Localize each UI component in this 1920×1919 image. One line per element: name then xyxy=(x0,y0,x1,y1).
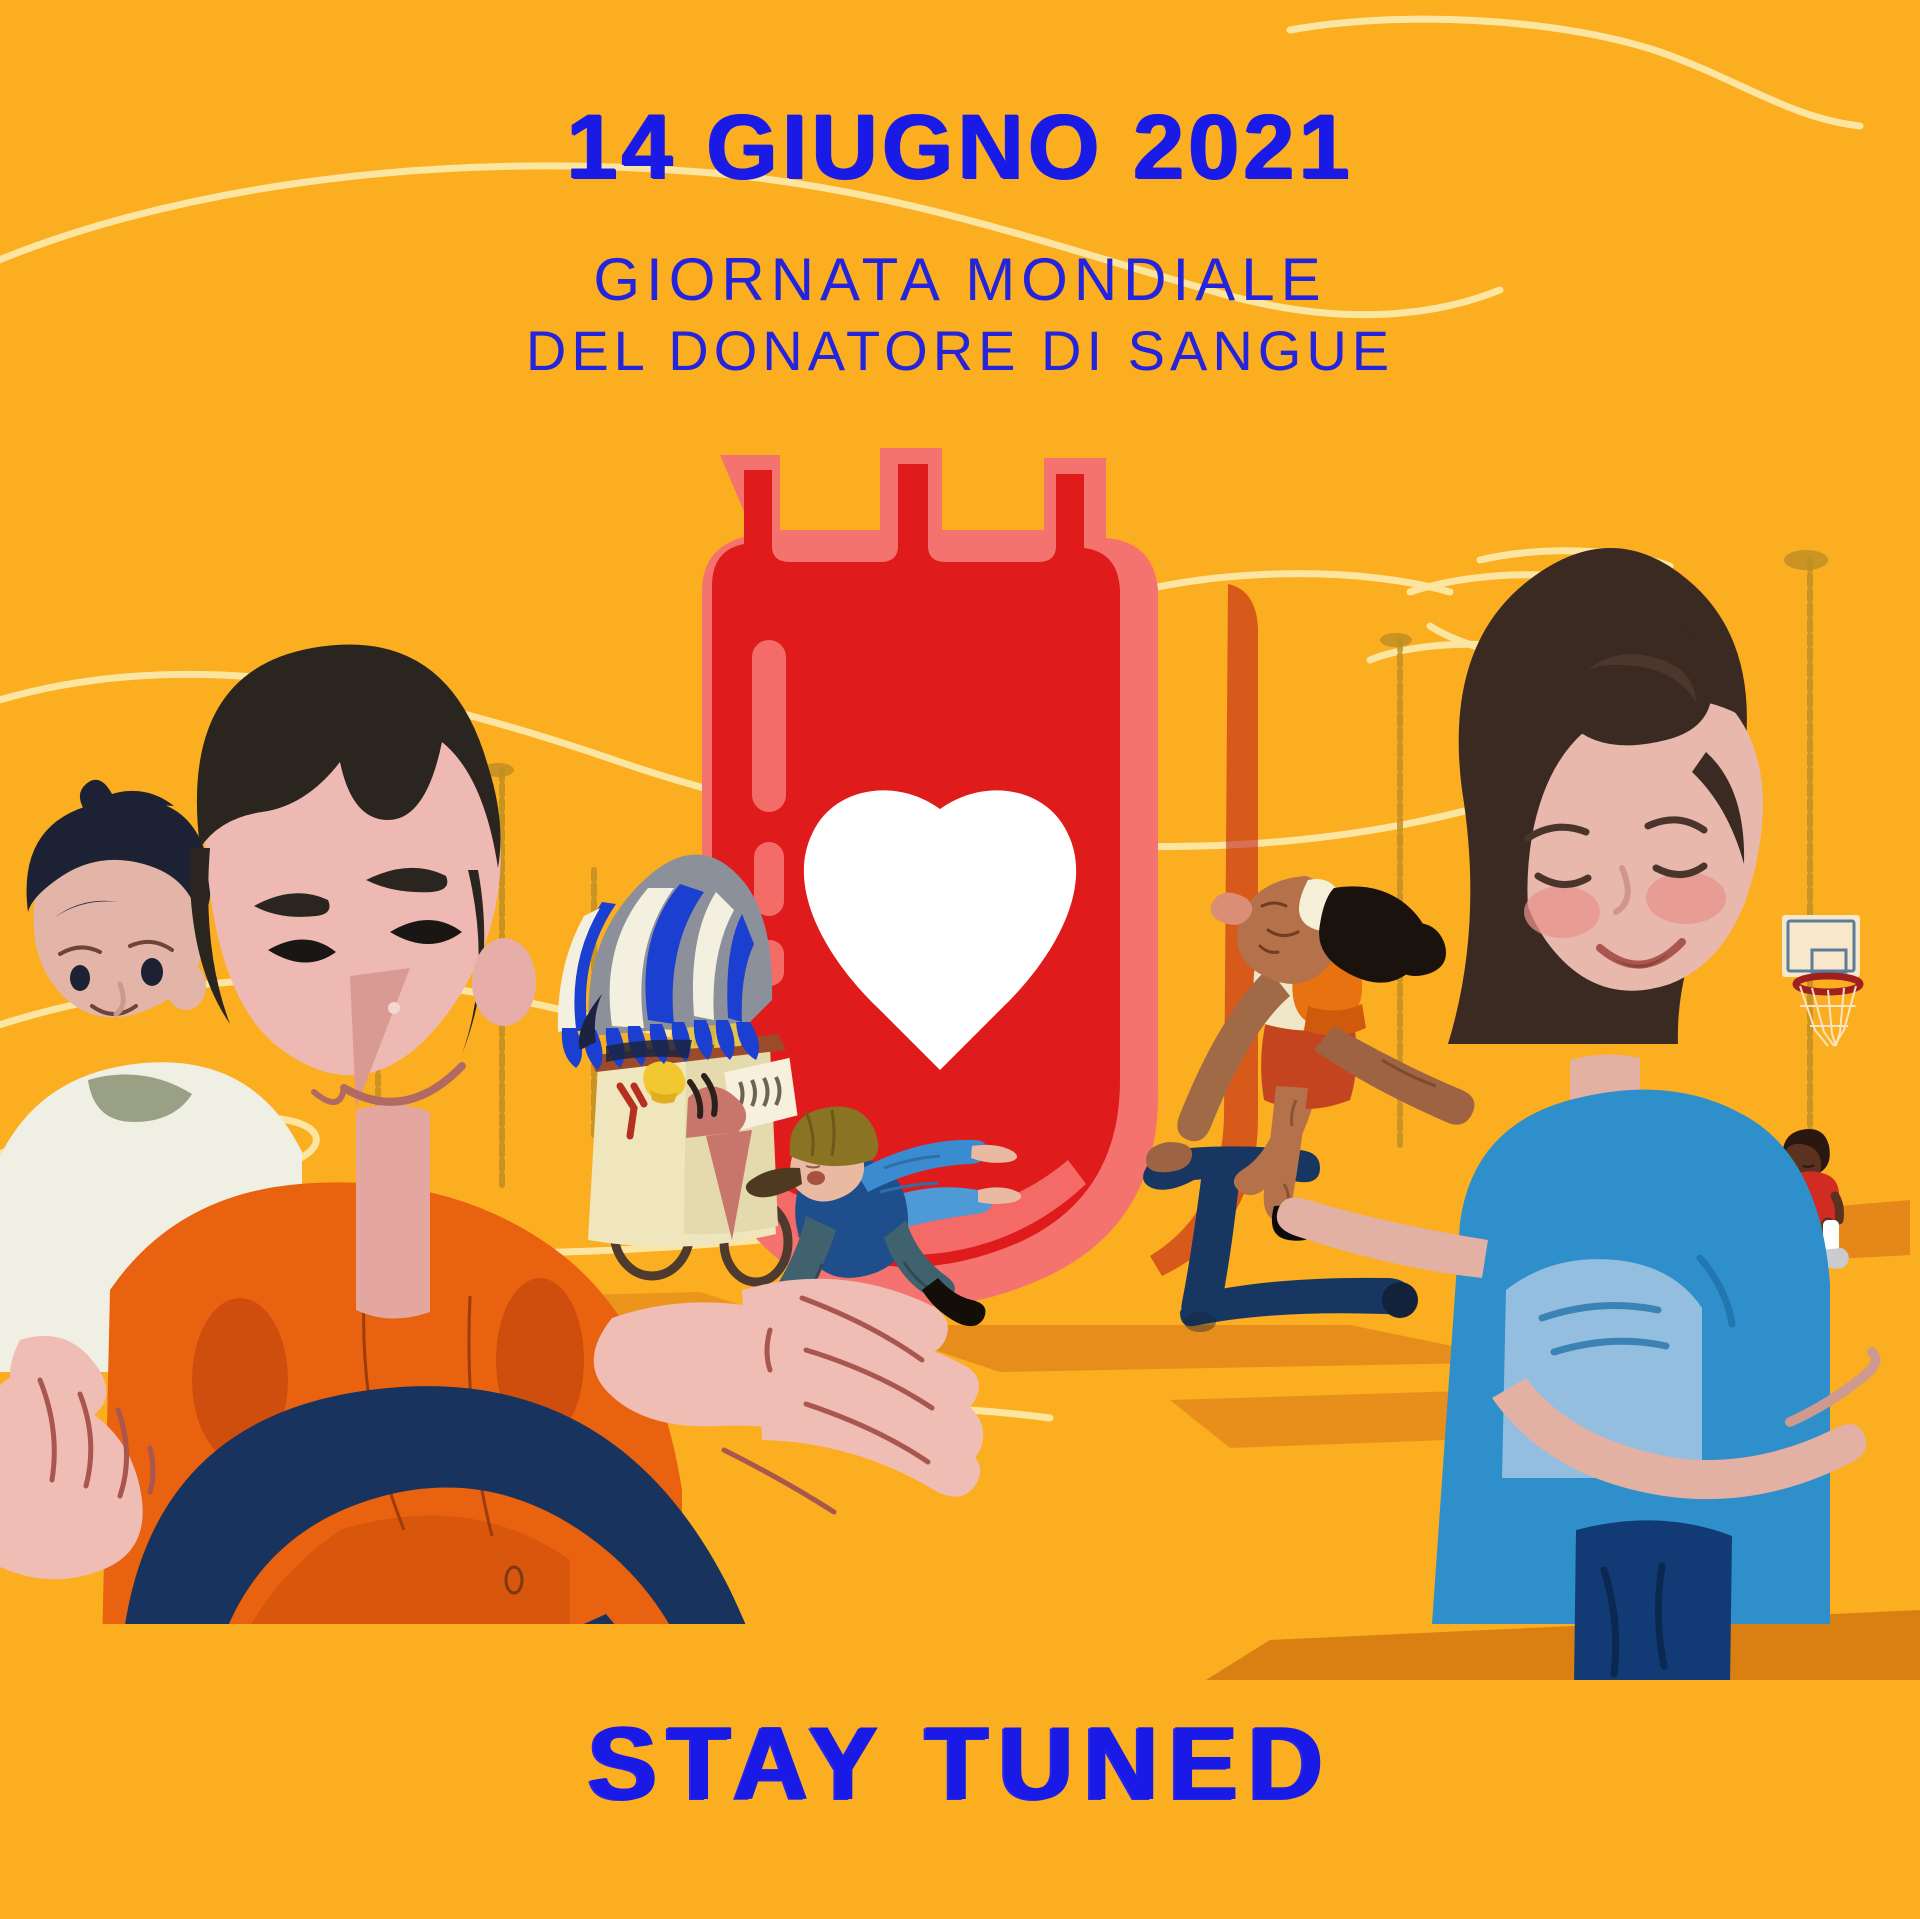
poster-canvas: 14 GIUGNO 2021 GIORNATA MONDIALE DEL DON… xyxy=(0,0,1920,1919)
headline-subtitle-line-1: GIORNATA MONDIALE xyxy=(0,245,1920,314)
headline-subtitle-line-2: DEL DONATORE DI SANGUE xyxy=(0,318,1920,383)
call-to-action-text: STAY TUNED xyxy=(0,1705,1920,1824)
headline-date: 14 GIUGNO 2021 xyxy=(0,95,1920,200)
